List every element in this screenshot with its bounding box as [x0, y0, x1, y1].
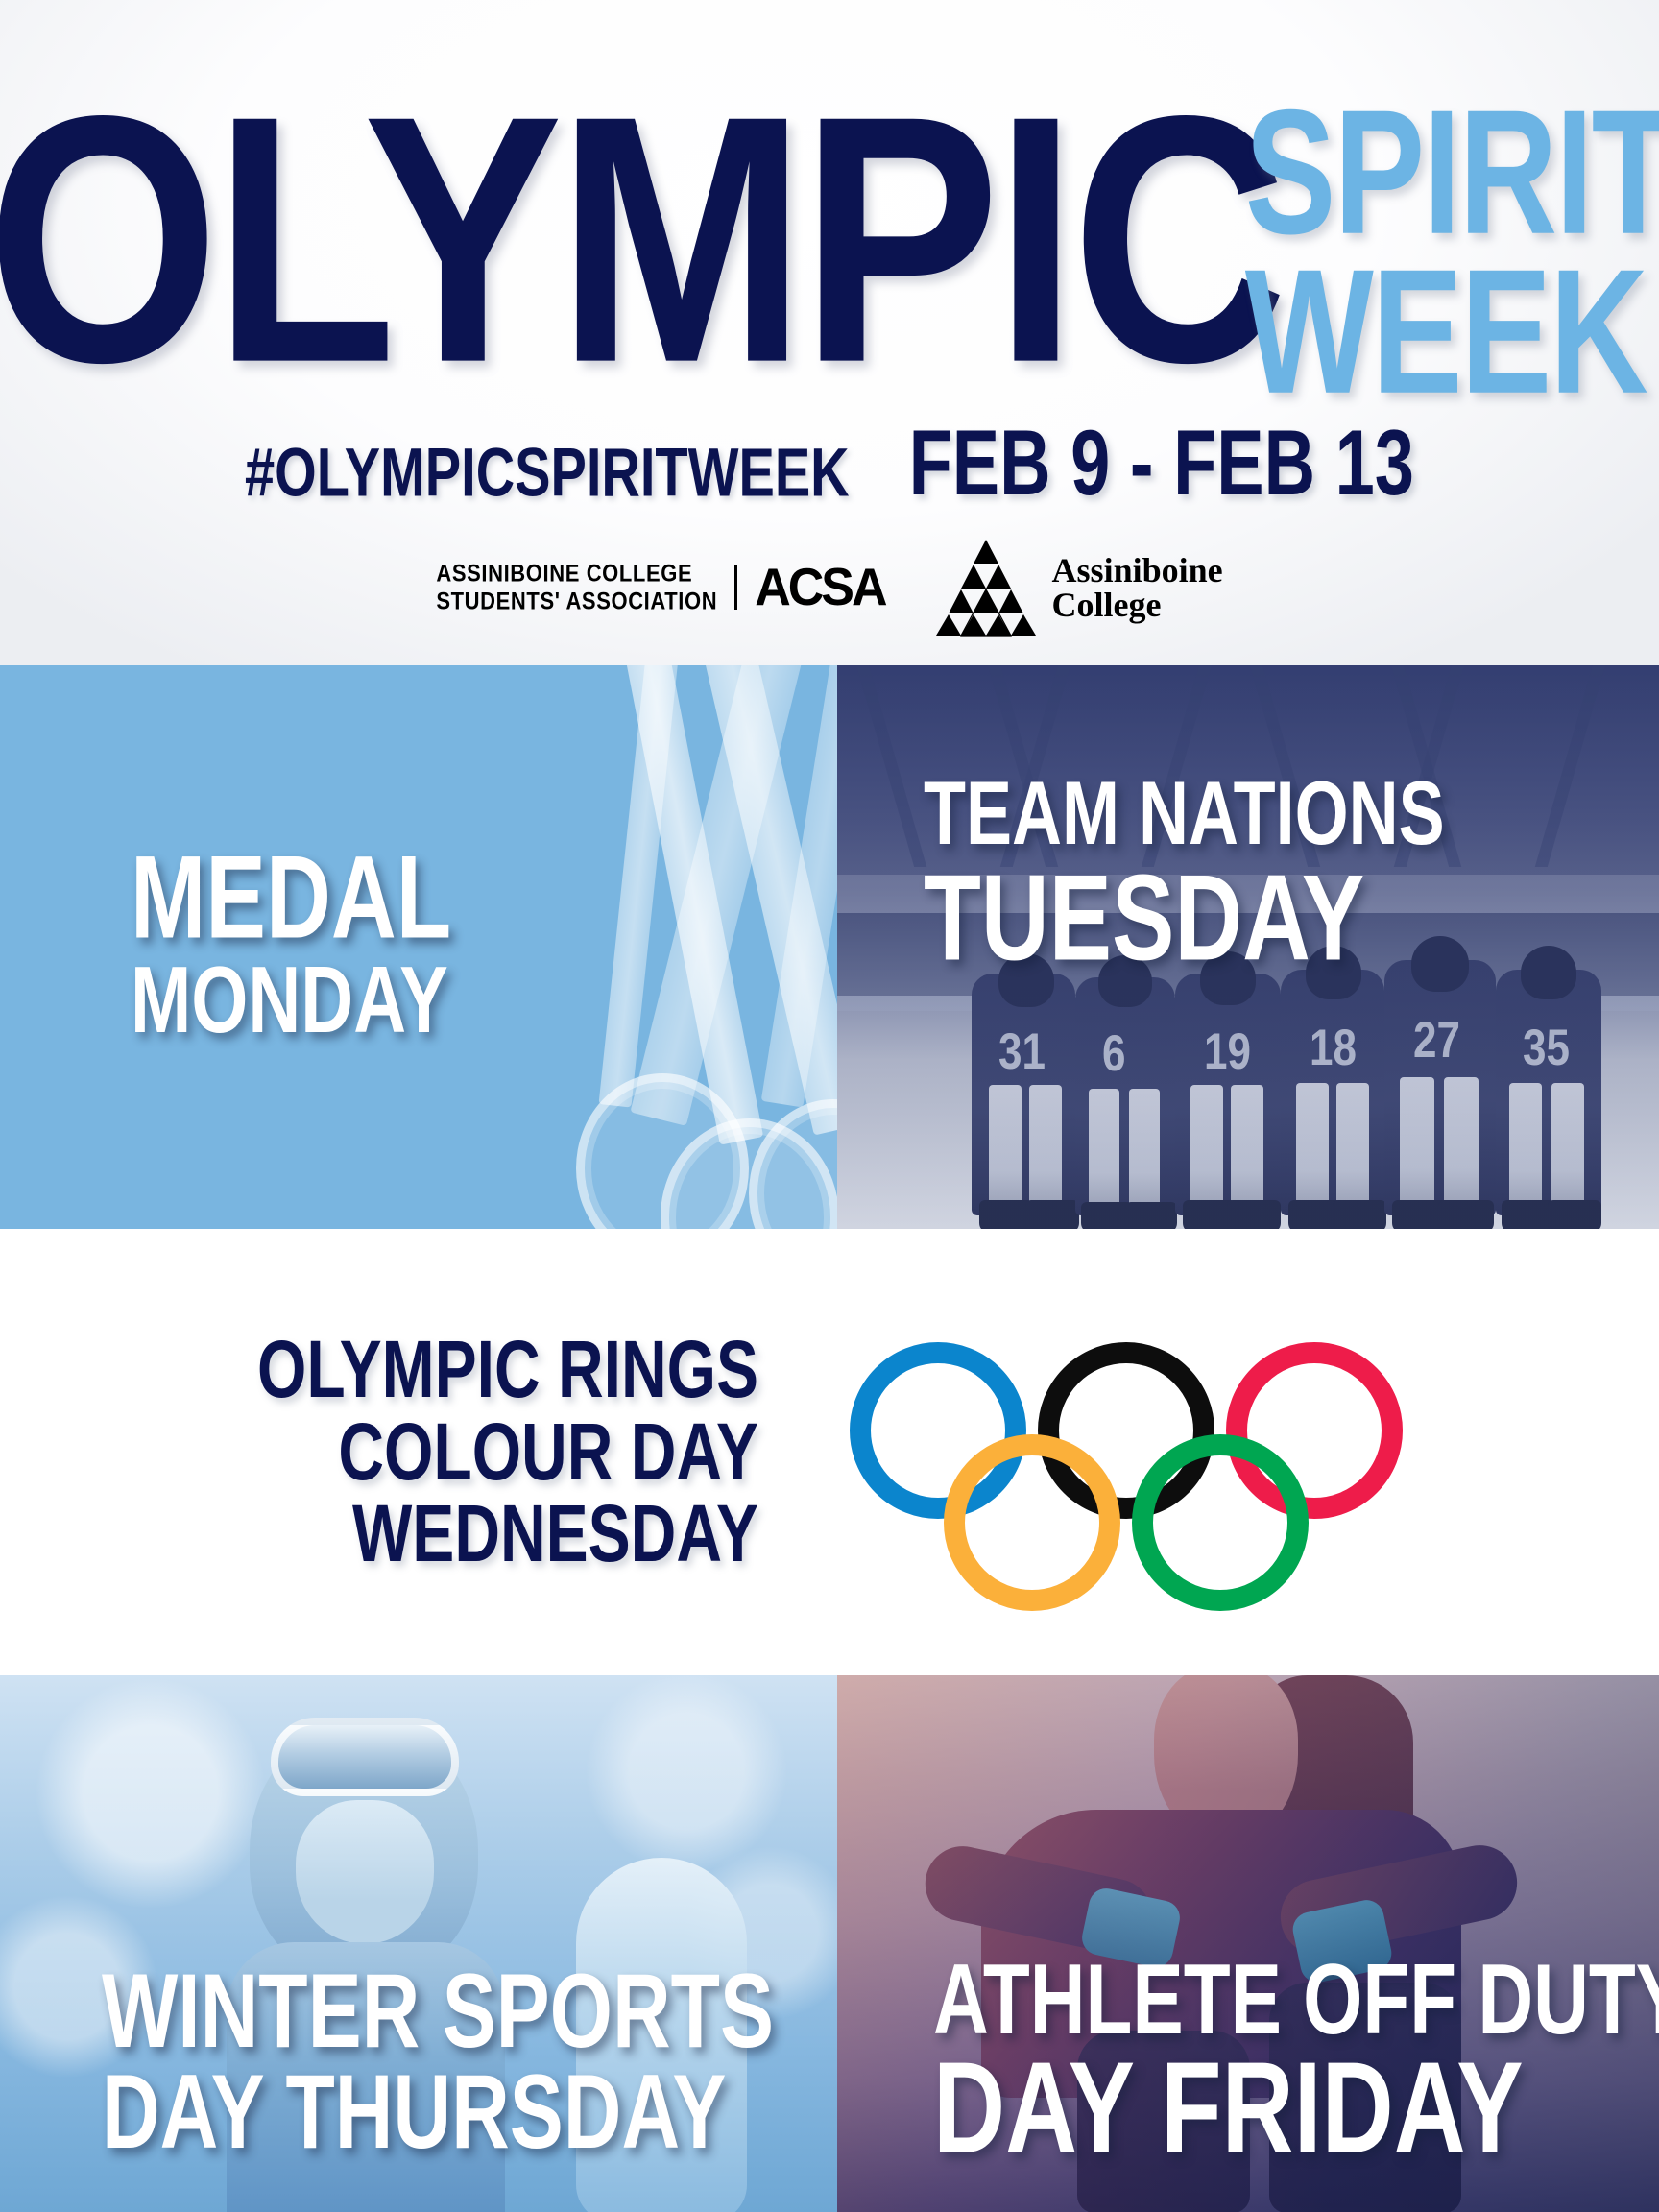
- day-label-wednesday-line3: WEDNESDAY: [257, 1481, 758, 1587]
- acsa-acronym: ACSA: [755, 558, 884, 618]
- assiniboine-college-wordmark: Assiniboine College: [1052, 553, 1223, 622]
- sierpinski-triangle-icon: [933, 538, 1039, 637]
- ski-goggles-icon: [271, 1718, 459, 1796]
- day-label-monday-line2: MONDAY: [131, 957, 451, 1045]
- page-title-accent-spirit: SPIRIT: [1245, 97, 1659, 250]
- college-name-line1: Assiniboine: [1052, 553, 1223, 588]
- yellow-ring: [944, 1434, 1120, 1611]
- hashtag-label: #OLYMPICSPIRITWEEK: [245, 432, 850, 512]
- page-title-accent-week: WEEK: [1245, 256, 1647, 409]
- poster-root: OLYMPIC SPIRIT WEEK #OLYMPICSPIRITWEEK F…: [0, 0, 1659, 2212]
- acsa-wordmark-line2: STUDENTS' ASSOCIATION: [436, 588, 717, 615]
- day-label-monday-line1: MEDAL: [131, 844, 451, 951]
- subtitle-row: #OLYMPICSPIRITWEEK FEB 9 - FEB 13: [0, 434, 1659, 516]
- day-panel-monday: MEDAL MONDAY: [0, 665, 837, 1229]
- day-panel-friday: ATHLETE OFF DUTY DAY FRIDAY: [837, 1675, 1659, 2212]
- logo-row: ASSINIBOINE COLLEGE STUDENTS' ASSOCIATIO…: [0, 538, 1659, 637]
- acsa-wordmark: ASSINIBOINE COLLEGE STUDENTS' ASSOCIATIO…: [436, 560, 717, 615]
- day-label-thursday-line1: WINTER SPORTS: [102, 1963, 774, 2059]
- page-title-main: OLYMPIC: [0, 91, 1282, 386]
- acsa-logo: ASSINIBOINE COLLEGE STUDENTS' ASSOCIATIO…: [436, 559, 884, 616]
- college-name-line2: College: [1052, 588, 1223, 622]
- day-label-monday: MEDAL MONDAY: [131, 844, 451, 1024]
- olympic-rings-icon: [850, 1333, 1402, 1573]
- day-label-friday-line2: DAY FRIDAY: [933, 2050, 1659, 2169]
- day-label-thursday-line2: DAY THURSDAY: [102, 2064, 774, 2160]
- day-label-thursday: WINTER SPORTS DAY THURSDAY: [102, 1963, 774, 2139]
- day-label-tuesday-line1: TEAM NATIONS: [924, 773, 1445, 855]
- day-panel-tuesday: 31 6 19 18: [837, 665, 1659, 1229]
- day-panel-thursday: WINTER SPORTS DAY THURSDAY: [0, 1675, 837, 2212]
- day-label-wednesday: OLYMPIC RINGS COLOUR DAY WEDNESDAY: [257, 1329, 758, 1575]
- logo-divider: [734, 565, 737, 610]
- poster-header: OLYMPIC SPIRIT WEEK #OLYMPICSPIRITWEEK F…: [0, 0, 1659, 665]
- day-label-tuesday: TEAM NATIONS TUESDAY: [924, 773, 1445, 948]
- assiniboine-college-logo: Assiniboine College: [933, 538, 1223, 637]
- acsa-wordmark-line1: ASSINIBOINE COLLEGE: [436, 560, 717, 588]
- green-ring: [1132, 1434, 1309, 1611]
- page-title-accent-stack: SPIRIT WEEK: [1245, 97, 1659, 373]
- day-label-tuesday-line2: TUESDAY: [924, 861, 1445, 974]
- day-panel-wednesday: OLYMPIC RINGS COLOUR DAY WEDNESDAY: [0, 1229, 1659, 1675]
- face-shape: [296, 1800, 434, 1944]
- day-label-friday: ATHLETE OFF DUTY DAY FRIDAY: [933, 1954, 1659, 2141]
- day-label-friday-line1: ATHLETE OFF DUTY: [933, 1954, 1659, 2046]
- date-range-label: FEB 9 - FEB 13: [909, 410, 1414, 517]
- poster-title-block: OLYMPIC SPIRIT WEEK: [0, 91, 1659, 373]
